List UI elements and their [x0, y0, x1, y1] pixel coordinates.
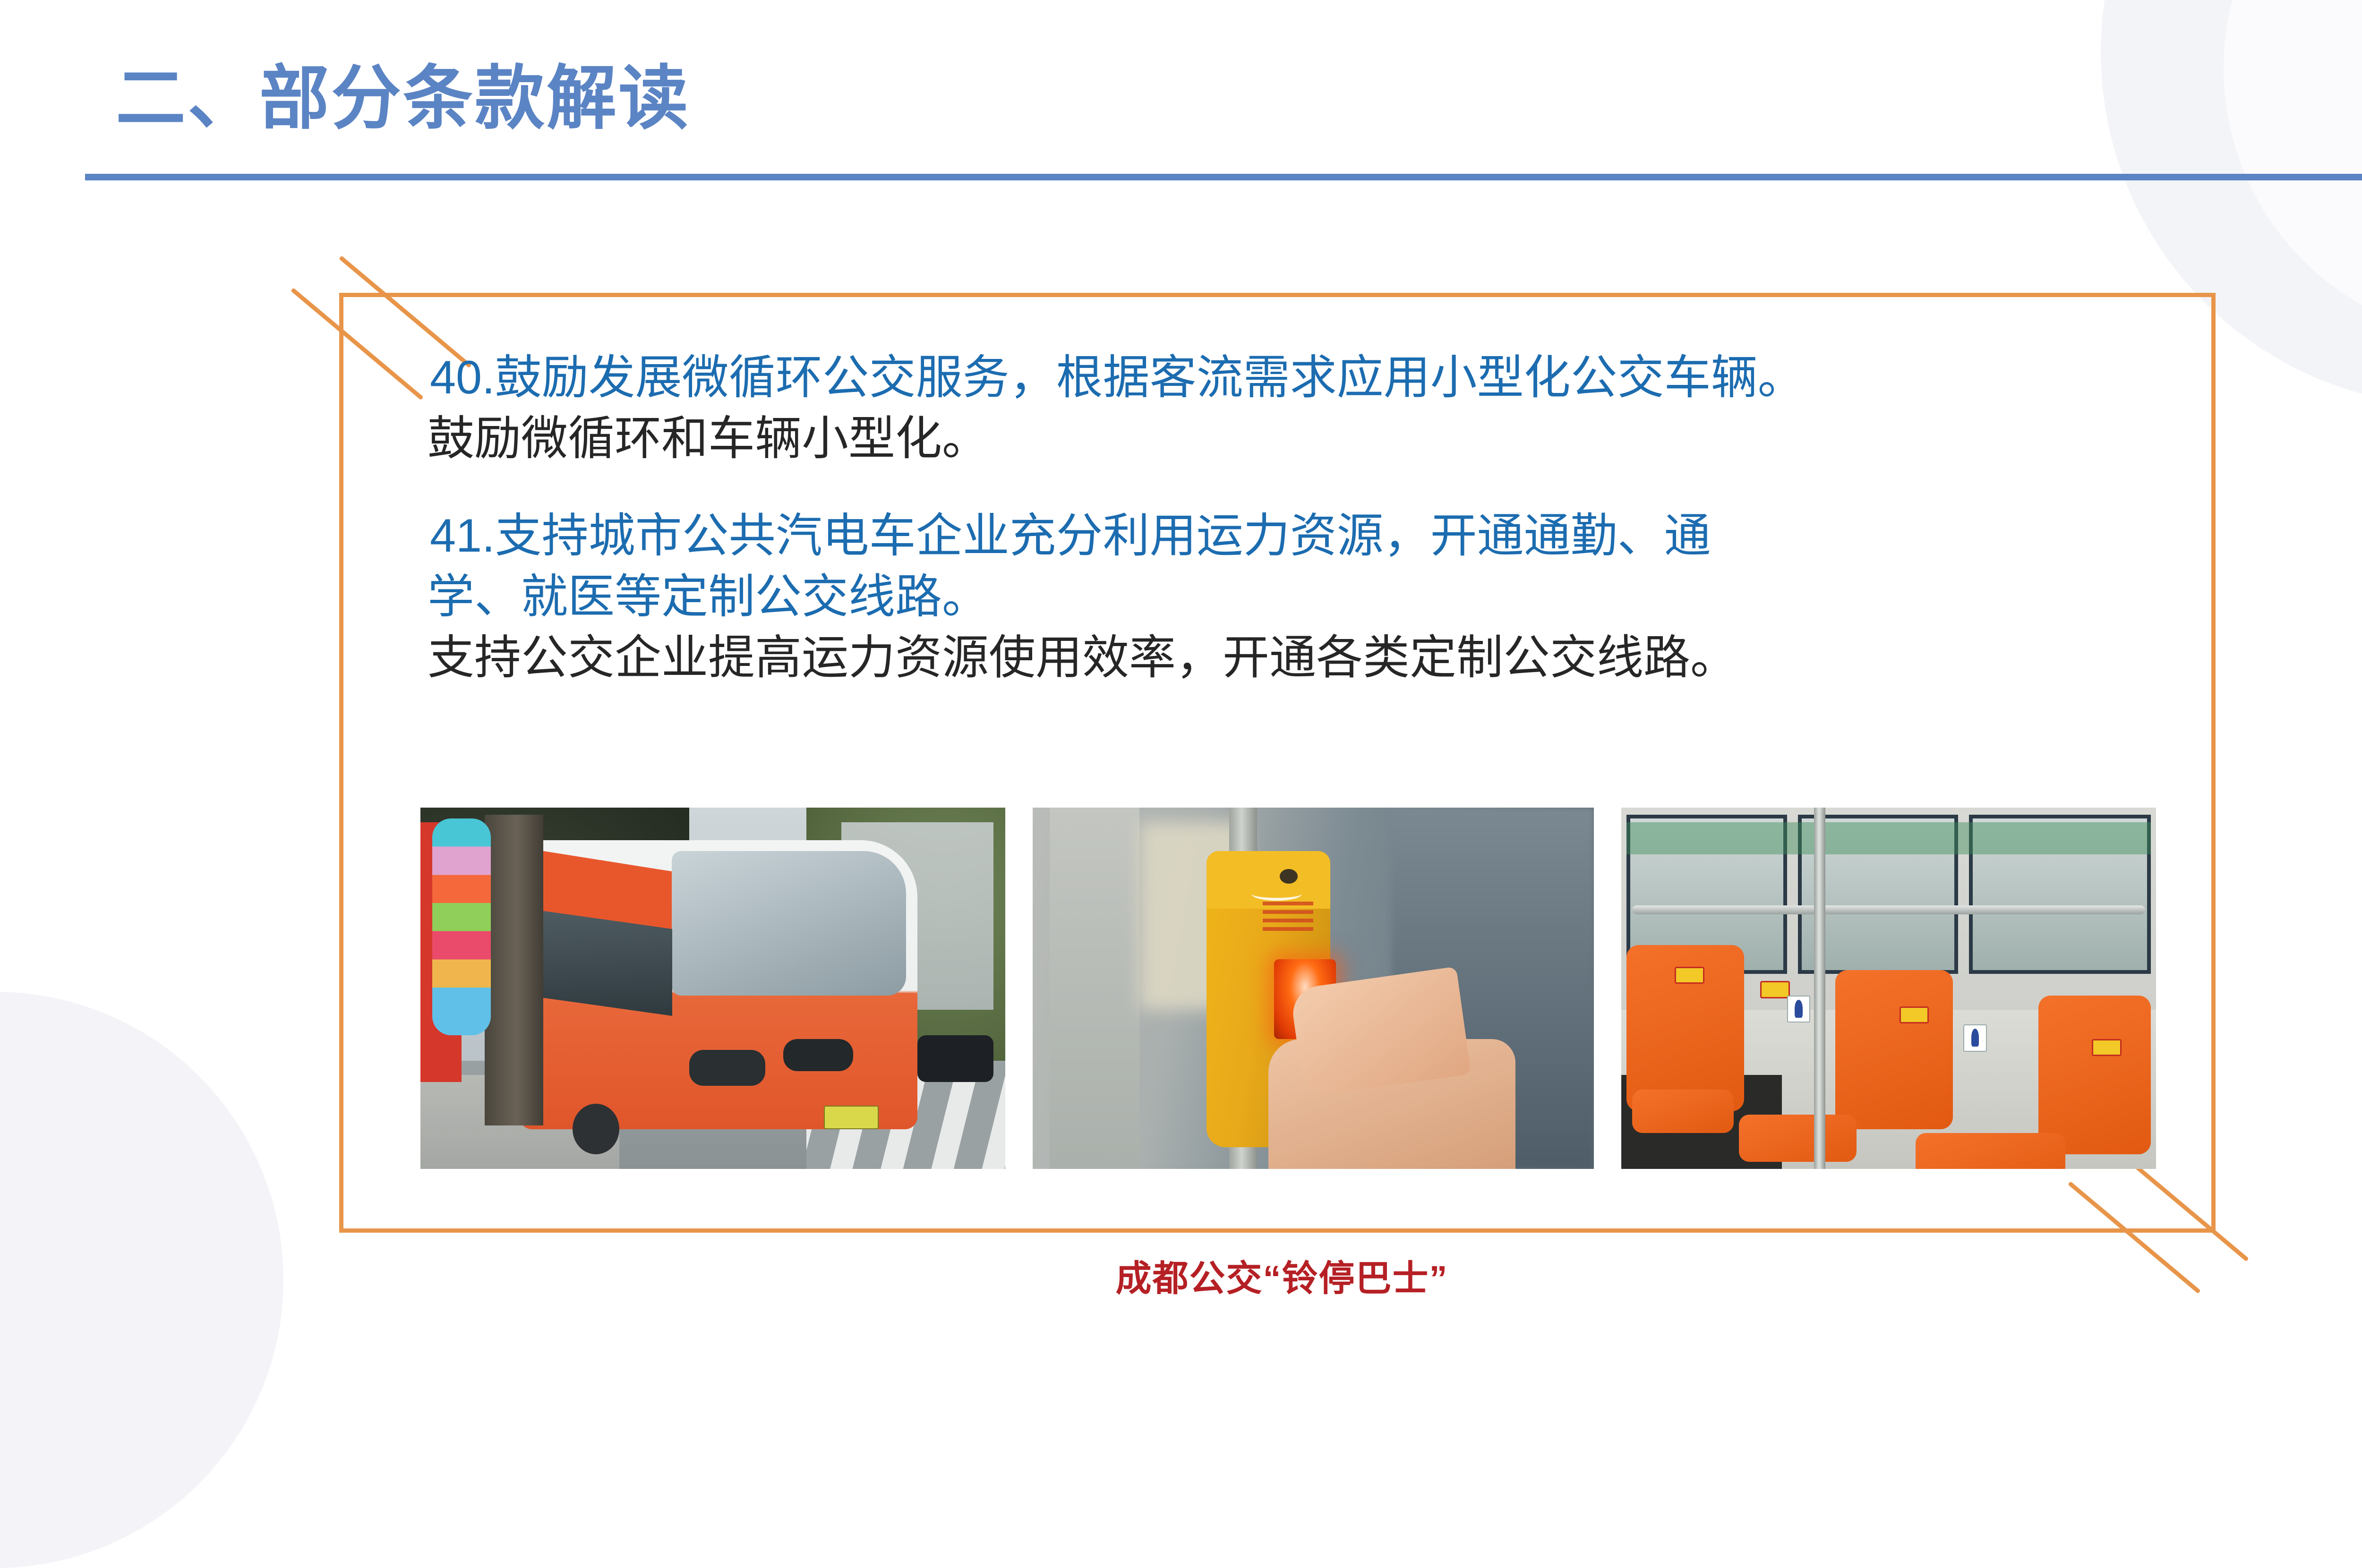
page-title: 二、部分条款解读 — [116, 64, 690, 134]
title-underline-rule — [85, 174, 2362, 180]
clause-41-plain-line-1: 支持公交企业提高运力资源使用效率，开通各类定制公交线路。 — [428, 627, 2149, 688]
passenger-sign-2 — [1963, 1024, 1986, 1052]
bus-windshield — [672, 851, 906, 996]
bus-headlight-left — [689, 1050, 765, 1086]
photo-bus-on-street — [420, 808, 1005, 1169]
housing-printed-text — [1263, 902, 1313, 934]
tree-trunk — [485, 815, 543, 1125]
stop-button-1 — [1675, 967, 1704, 984]
bus-headlight-right — [783, 1039, 854, 1072]
seat-cushion-2 — [1739, 1115, 1857, 1161]
pressing-finger — [1290, 966, 1472, 1097]
housing-screw-top — [1280, 869, 1298, 884]
seat-cushion-3 — [1916, 1133, 2065, 1169]
clause-40-plain-line-1: 鼓励微循环和车辆小型化。 — [428, 408, 2149, 469]
passenger-sign-1 — [1787, 996, 1810, 1023]
seat-cushion-1 — [1632, 1090, 1734, 1133]
window-green-tint-strip — [1626, 822, 2150, 855]
handrail — [1632, 905, 2146, 915]
clause-paragraph-41: 41.支持城市公共汽电车企业充分利用运力资源，开通通勤、通 学、就医等定制公交线… — [430, 505, 2149, 688]
clause-41-highlight-line-2: 学、就医等定制公交线路。 — [428, 566, 2149, 627]
balloon-column — [432, 818, 491, 1035]
seat-backrest-2 — [1835, 970, 1953, 1129]
bus-front-wheel — [573, 1104, 619, 1154]
photo-caption: 成都公交“铃停巴士” — [0, 1249, 2362, 1301]
photo-bus-interior-seats — [1621, 808, 2156, 1169]
clause-text-block: 40.鼓励发展微循环公交服务，根据客流需求应用小型化公交车辆。 鼓励微循环和车辆… — [430, 347, 2149, 688]
paragraph-spacer — [430, 469, 2149, 505]
photo-stop-request-button — [1033, 808, 1594, 1169]
clause-paragraph-40: 40.鼓励发展微循环公交服务，根据客流需求应用小型化公交车辆。 鼓励微循环和车辆… — [430, 347, 2149, 469]
stop-button-2 — [1760, 981, 1790, 998]
bus-license-plate — [824, 1106, 878, 1129]
stop-button-3 — [1900, 1006, 1929, 1024]
stop-button-4 — [2092, 1039, 2122, 1057]
photo-strip — [420, 808, 2135, 1169]
clause-40-highlight-line-1: 40.鼓励发展微循环公交服务，根据客流需求应用小型化公交车辆。 — [430, 347, 2149, 408]
vertical-grab-pole — [1814, 808, 1826, 1169]
interior-panel-left — [1050, 808, 1139, 1169]
slide-header: 二、部分条款解读 — [0, 0, 2362, 198]
clause-41-highlight-line-1: 41.支持城市公共汽电车企业充分利用运力资源，开通通勤、通 — [430, 505, 2149, 566]
parked-car — [917, 1035, 993, 1082]
seat-backrest-3 — [2038, 996, 2151, 1155]
